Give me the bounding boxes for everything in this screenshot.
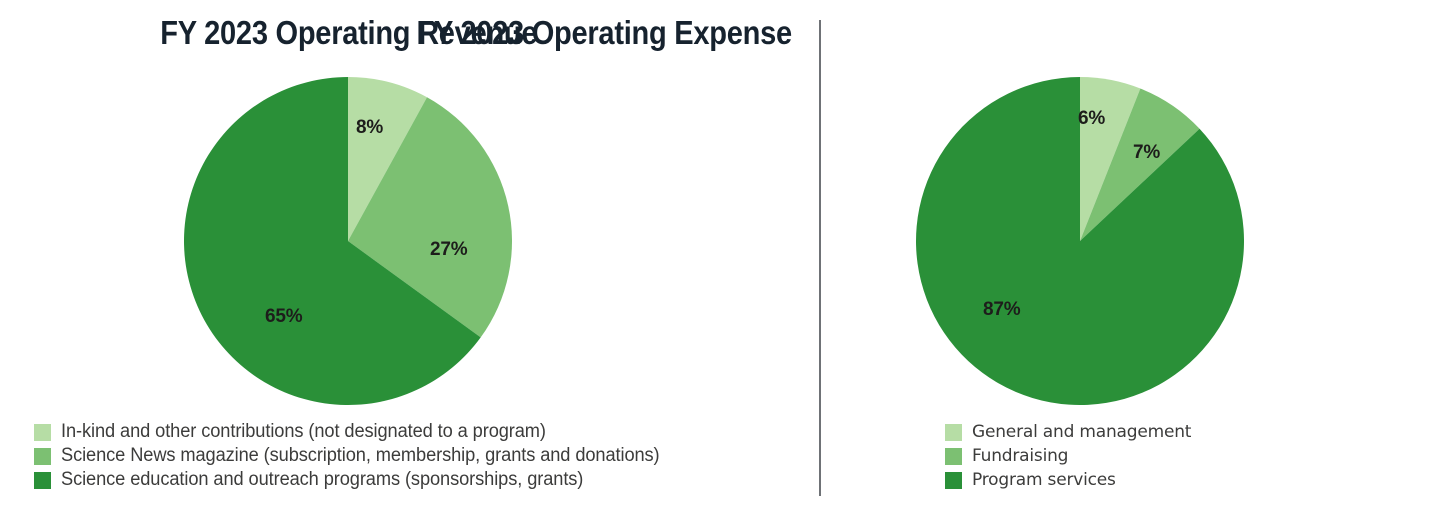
legend-item-label: In-kind and other contributions (not des…: [61, 421, 546, 443]
pie-slice-label-expense-2: 87%: [983, 299, 1021, 320]
panel-operating-revenue: FY 2023 Operating Revenue 8% 27% 65% In-…: [0, 0, 819, 514]
legend-swatch-icon: [945, 424, 962, 441]
legend-item[interactable]: In-kind and other contributions (not des…: [34, 420, 684, 444]
pie-slice-label-expense-1: 7%: [1133, 142, 1160, 163]
legend-item-label: Fundraising: [972, 445, 1068, 467]
legend-item-label: General and management: [972, 421, 1191, 443]
pie-chart-expense: 6% 7% 87%: [916, 77, 1244, 405]
legend-expense: General and management Fundraising Progr…: [945, 420, 1191, 492]
infographic-root: FY 2023 Operating Revenue 8% 27% 65% In-…: [0, 0, 1440, 514]
legend-item[interactable]: Fundraising: [945, 444, 1191, 468]
legend-item[interactable]: General and management: [945, 420, 1191, 444]
legend-item[interactable]: Science education and outreach programs …: [34, 468, 684, 492]
legend-revenue: In-kind and other contributions (not des…: [34, 420, 684, 492]
legend-swatch-icon: [34, 472, 51, 489]
pie-slice-label-expense-0: 6%: [1078, 108, 1105, 129]
page-title-expense: FY 2023 Operating Expense: [129, 14, 1079, 52]
pie-chart-revenue: 8% 27% 65%: [184, 77, 512, 405]
legend-item[interactable]: Science News magazine (subscription, mem…: [34, 444, 684, 468]
legend-item[interactable]: Program services: [945, 468, 1191, 492]
pie-chart-revenue-svg: 8% 27% 65%: [184, 77, 512, 405]
pie-slice-label-revenue-2: 65%: [265, 306, 303, 327]
pie-slice-label-revenue-0: 8%: [356, 117, 383, 138]
pie-chart-expense-svg: 6% 7% 87%: [916, 77, 1244, 405]
panel-divider: [819, 20, 821, 496]
legend-swatch-icon: [945, 472, 962, 489]
legend-swatch-icon: [34, 448, 51, 465]
pie-slice-label-revenue-1: 27%: [430, 239, 468, 260]
legend-item-label: Program services: [972, 469, 1116, 491]
legend-item-label: Science News magazine (subscription, mem…: [61, 445, 660, 467]
legend-item-label: Science education and outreach programs …: [61, 469, 583, 491]
legend-swatch-icon: [945, 448, 962, 465]
legend-swatch-icon: [34, 424, 51, 441]
